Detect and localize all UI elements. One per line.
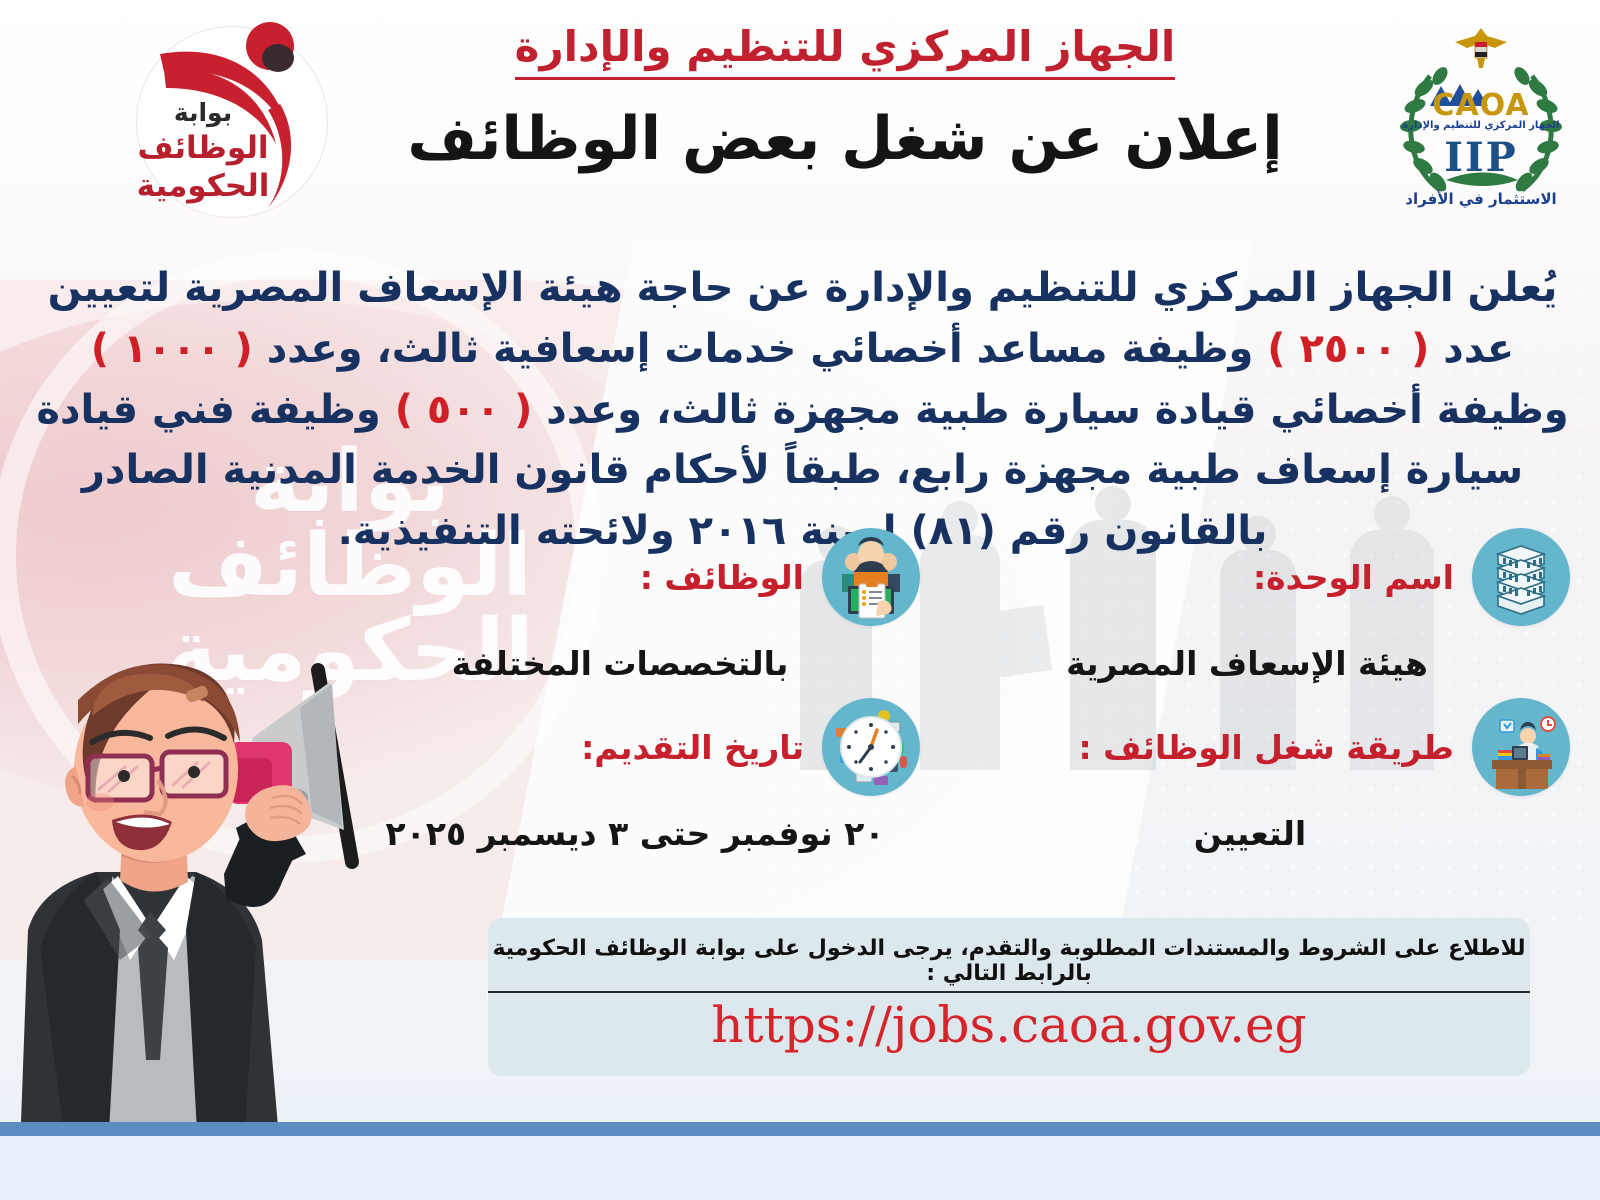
building-icon [1472,528,1570,626]
iip-acronym: IIP [1378,134,1584,181]
info-unit-value: هيئة الإسعاف المصرية [1010,644,1570,683]
caoa-arabic-name: الجهاز المركزي للتنظيم والإدارة [1378,120,1584,131]
info-method-label: طريقة شغل الوظائف : [1078,728,1454,767]
clock-icon [822,698,920,796]
poster-canvas: بوابة الوظائف الحكومية بوابة الوظائف الح… [0,0,1600,1200]
title-block: الجهاز المركزي للتنظيم والإدارة إعلان عن… [340,22,1350,174]
paragraph-text: وظيفة أخصائي قيادة سيارة طبية مجهزة ثالث… [532,387,1568,433]
info-method: طريقة شغل الوظائف : التعيين [1010,698,1570,853]
footer-divider [0,1122,1600,1136]
poster-header: بوابة الوظائف الحكومية الجهاز المركزي لل… [0,0,1600,230]
info-date: تاريخ التقديم: ٢٠ نوفمبر حتى ٣ ديسمبر ٢٠… [360,698,920,853]
job-count-highlight: ( ٢٥٠٠ ) [1267,326,1429,372]
organization-title: الجهاز المركزي للتنظيم والإدارة [515,22,1176,80]
info-grid: اسم الوحدة: هيئة الإسعاف المصرية [360,520,1570,860]
application-link-box[interactable]: للاطلاع على الشروط والمستندات المطلوبة و… [488,918,1530,1076]
team-clipboard-icon [822,528,920,626]
announcement-paragraph: يُعلن الجهاز المركزي للتنظيم والإدارة عن… [30,258,1575,562]
application-note-text: للاطلاع على الشروط والمستندات المطلوبة و… [488,936,1530,993]
iip-subtitle: الاستثمار في الأفراد [1378,190,1584,208]
logo-line-3: الحكومية [128,168,278,204]
logo-line-1: بوابة [128,98,278,127]
mascot-announcer-illustration [0,630,400,1150]
caoa-logo: CAOA الجهاز المركزي للتنظيم والإدارة IIP… [1378,14,1584,220]
desk-worker-icon [1472,698,1570,796]
info-jobs-label: الوظائف : [640,558,804,597]
logo-line-2: الوظائف [128,130,278,166]
job-count-highlight: ( ٥٠٠ ) [395,387,533,433]
jobs-portal-logo: بوابة الوظائف الحكومية [118,18,348,218]
application-note: للاطلاع على الشروط والمستندات المطلوبة و… [488,936,1530,993]
info-date-label: تاريخ التقديم: [581,728,804,767]
info-method-value: التعيين [1010,814,1570,853]
application-url[interactable]: https://jobs.caoa.gov.eg [488,996,1530,1054]
paragraph-text: وظيفة مساعد أخصائي خدمات إسعافية ثالث، و… [253,326,1267,372]
job-count-highlight: ( ١٠٠٠ ) [91,326,253,372]
poster-main-title: إعلان عن شغل بعض الوظائف [340,104,1350,174]
poster-footer: EgyptianCaoa www www.caoa.gov.eg [0,1136,1600,1200]
caoa-acronym: CAOA [1378,88,1584,123]
info-jobs-value: بالتخصصات المختلفة [360,644,920,683]
info-unit-label: اسم الوحدة: [1253,558,1454,597]
info-unit: اسم الوحدة: هيئة الإسعاف المصرية [1010,528,1570,683]
info-jobs: الوظائف : بالتخصصات المختلفة [360,528,920,683]
info-date-value: ٢٠ نوفمبر حتى ٣ ديسمبر ٢٠٢٥ [360,814,920,853]
